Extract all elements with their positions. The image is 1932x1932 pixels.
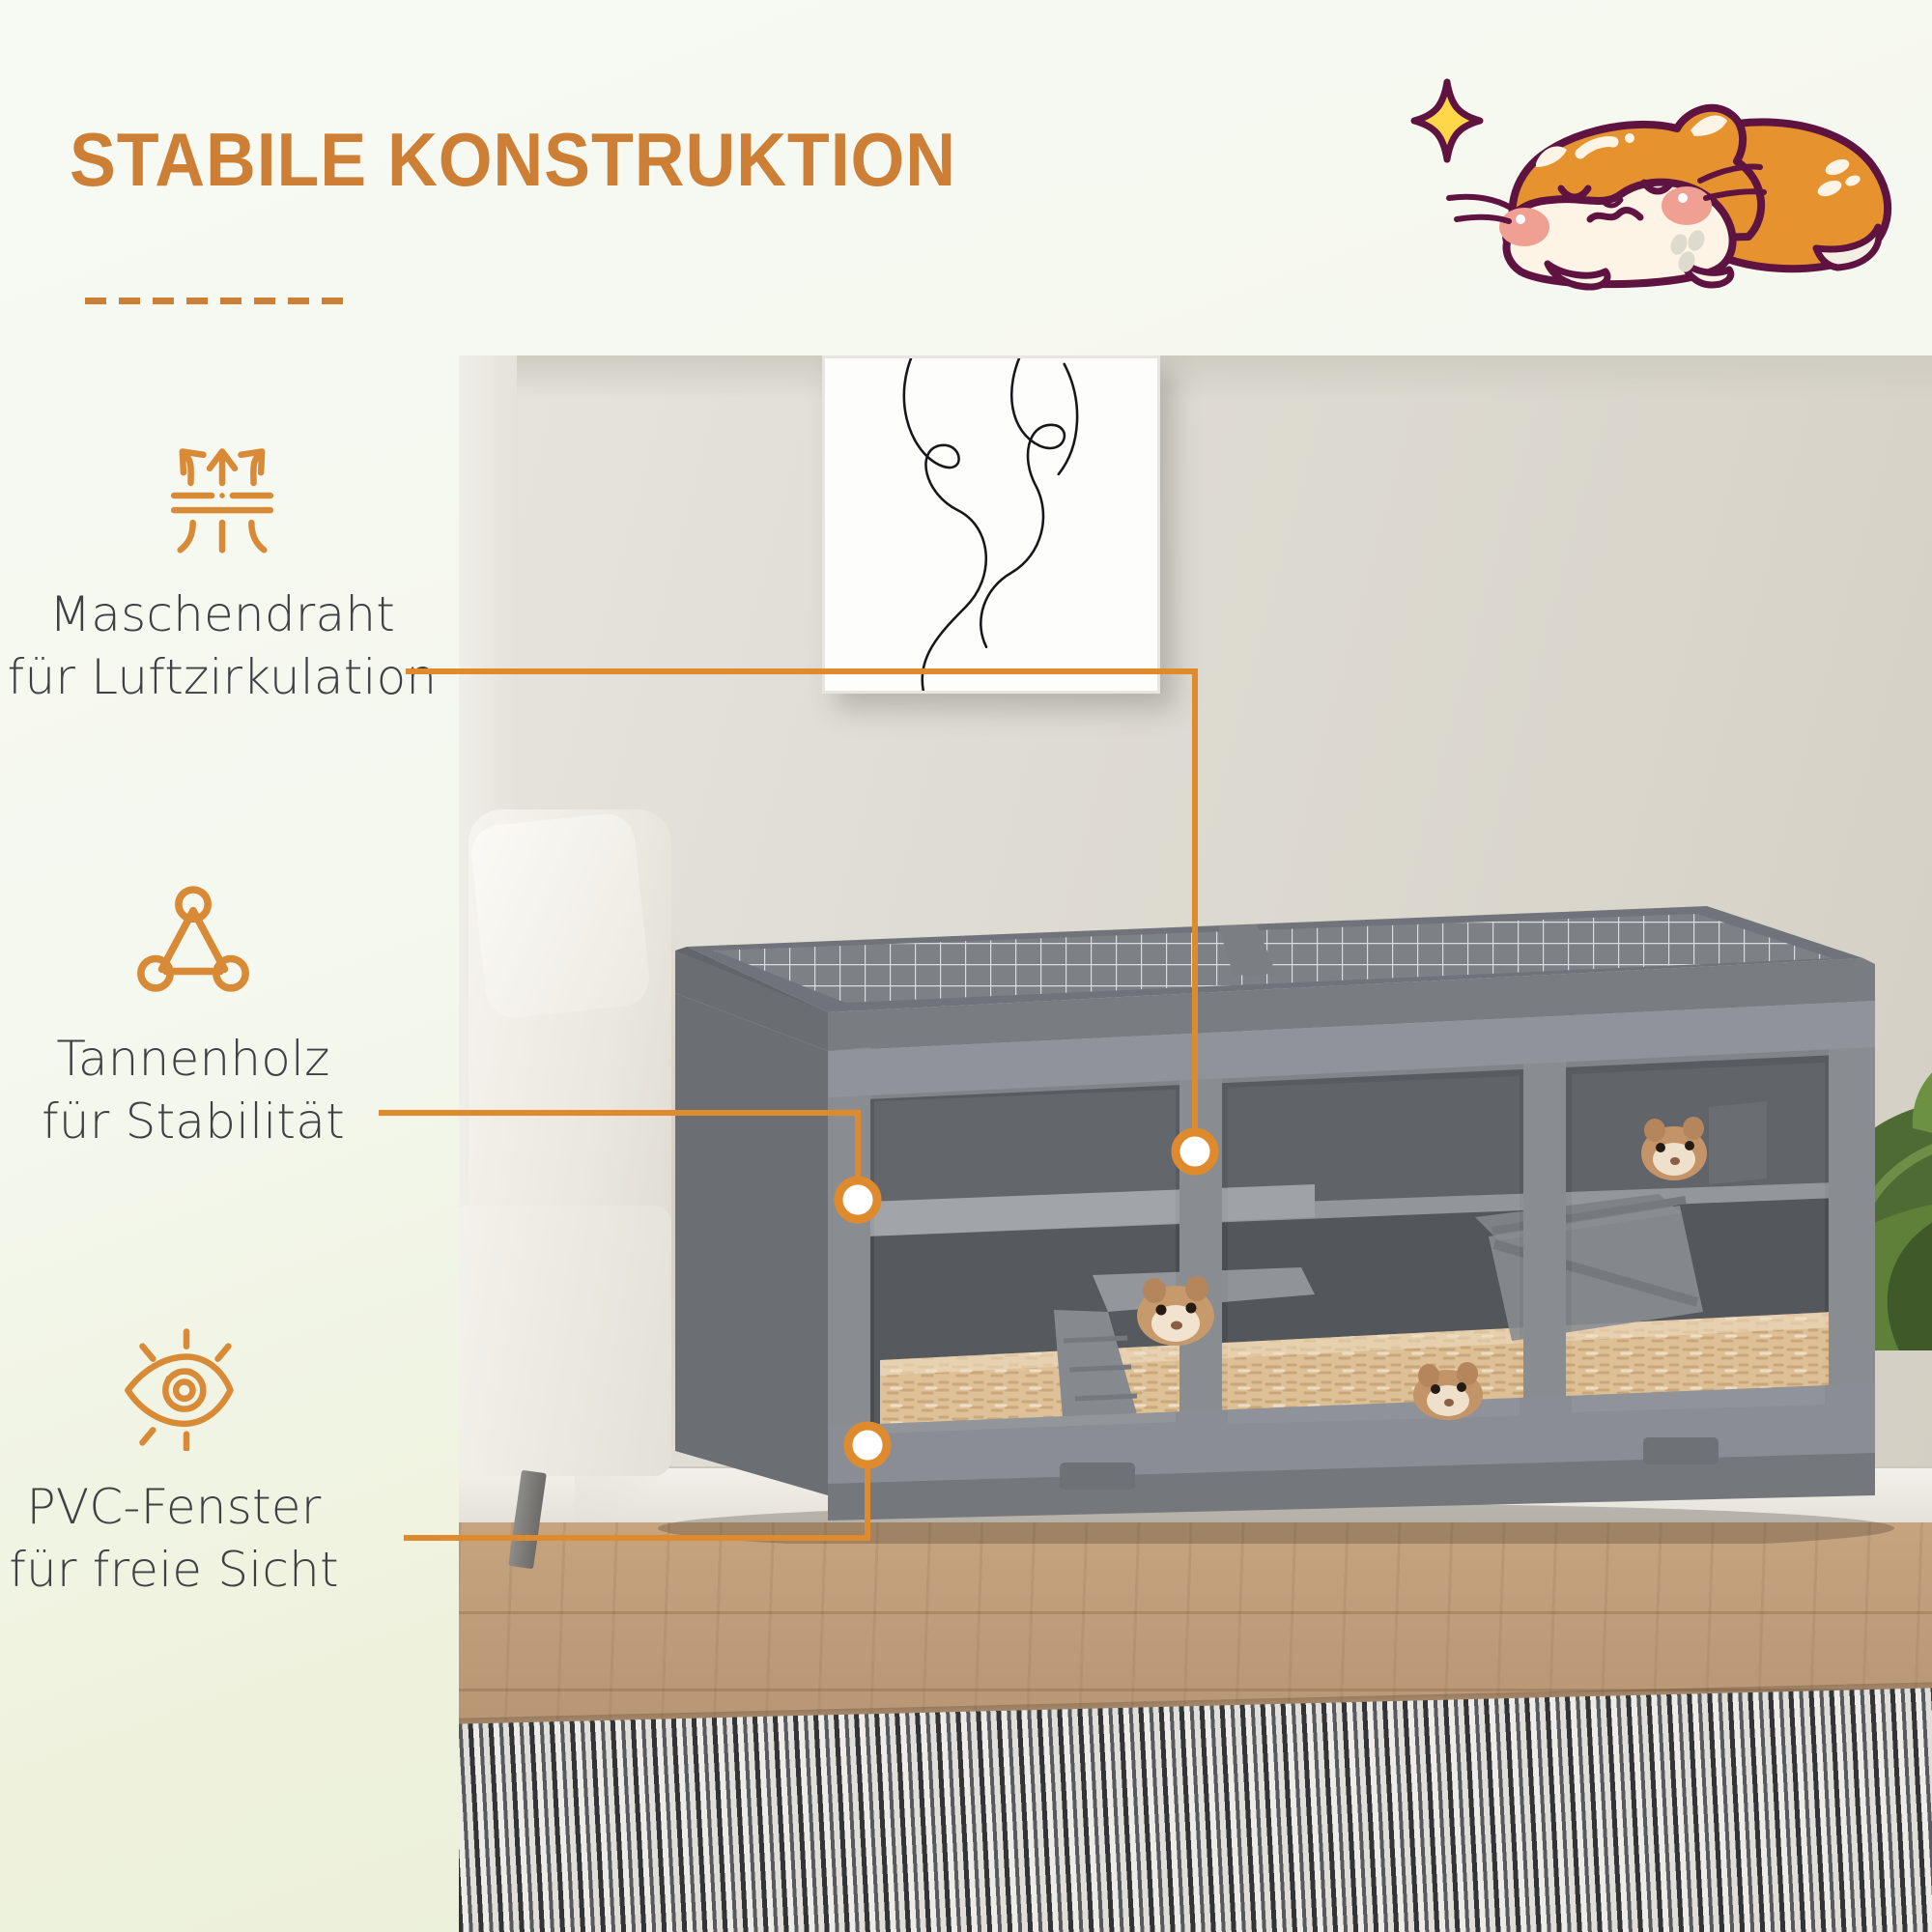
eye-visibility-icon xyxy=(111,1325,237,1451)
room-scene-photo xyxy=(459,355,1932,1932)
triangle-stability-icon xyxy=(130,877,256,1003)
feature-window-label: PVC-Fenster für freie Sicht xyxy=(0,1476,425,1602)
title-divider xyxy=(85,298,354,304)
feature-wood: Tannenholz für Stabilität xyxy=(0,877,444,1153)
floor-seam xyxy=(459,1611,1932,1614)
infographic-canvas: STABILE KONSTRUKTION xyxy=(0,0,1932,1932)
hamster-2 xyxy=(1137,1276,1214,1346)
airflow-mesh-icon xyxy=(159,433,285,558)
wall-art-frame xyxy=(822,355,1160,694)
feature-window: PVC-Fenster für freie Sicht xyxy=(0,1325,425,1602)
sparkle-icon xyxy=(1414,82,1480,159)
feature-wood-label: Tannenholz für Stabilität xyxy=(0,1028,444,1153)
feature-mesh: Maschendraht für Luftzirkulation xyxy=(0,433,473,709)
feature-mesh-label: Maschendraht für Luftzirkulation xyxy=(0,583,473,709)
grey-wooden-hamster-cage xyxy=(639,858,1894,1544)
sleeping-hamster-mascot xyxy=(1401,72,1903,295)
ceiling-shadow xyxy=(459,355,1932,400)
page-title: STABILE KONSTRUKTION xyxy=(70,116,956,204)
sofa-cushion xyxy=(469,811,652,1021)
hamster-3 xyxy=(1413,1362,1483,1420)
